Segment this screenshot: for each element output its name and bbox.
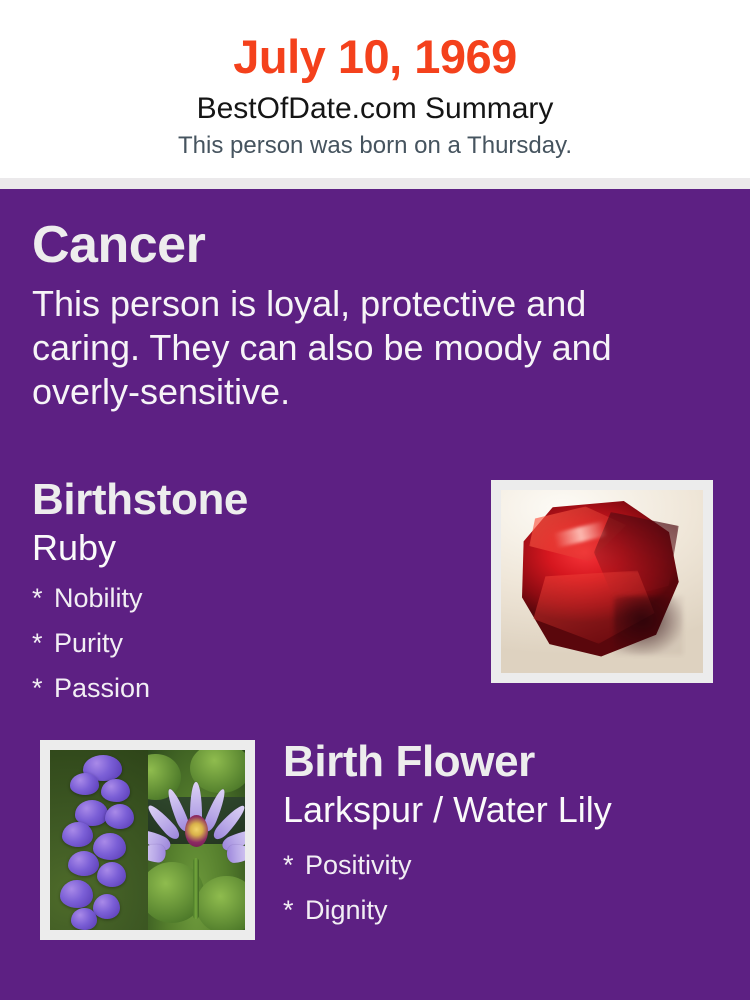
- lily-pad: [196, 876, 245, 930]
- list-item: *Passion: [32, 666, 462, 711]
- birthstone-section: Birthstone Ruby *Nobility *Purity *Passi…: [32, 475, 462, 711]
- birth-flower-trait-label: Positivity: [305, 850, 412, 880]
- larkspur-bloom: [60, 880, 93, 909]
- birth-flower-value: Larkspur / Water Lily: [283, 787, 733, 831]
- water-lily-photo-half: [148, 750, 246, 930]
- bullet-star-icon: *: [32, 576, 54, 621]
- birthstone-image-frame: [491, 480, 713, 683]
- card-header: July 10, 1969 BestOfDate.com Summary Thi…: [0, 0, 750, 178]
- birth-flower-image-frame: [40, 740, 255, 940]
- list-item: *Nobility: [32, 576, 462, 621]
- lily-stem: [193, 858, 199, 919]
- larkspur-bloom: [97, 862, 126, 887]
- birthstone-trait-list: *Nobility *Purity *Passion: [32, 569, 462, 711]
- zodiac-section: Cancer This person is loyal, protective …: [32, 216, 672, 414]
- larkspur-bloom: [105, 804, 134, 829]
- ruby-facet-dark: [614, 596, 683, 655]
- birth-flower-trait-list: *Positivity *Dignity: [283, 831, 733, 933]
- larkspur-bloom: [101, 779, 130, 802]
- lily-petal: [226, 844, 245, 863]
- birth-flower-title: Birth Flower: [283, 737, 733, 787]
- larkspur-bloom: [70, 773, 99, 795]
- zodiac-sign-name: Cancer: [32, 216, 672, 274]
- larkspur-and-water-lily-photo: [50, 750, 245, 930]
- birthday-summary-card: July 10, 1969 BestOfDate.com Summary Thi…: [0, 0, 750, 1000]
- bullet-star-icon: *: [283, 888, 305, 933]
- birth-flower-trait-label: Dignity: [305, 895, 388, 925]
- birthstone-value: Ruby: [32, 525, 462, 569]
- list-item: *Dignity: [283, 888, 733, 933]
- larkspur-bloom: [93, 894, 120, 919]
- birthstone-title: Birthstone: [32, 475, 462, 525]
- birthstone-trait-label: Passion: [54, 673, 150, 703]
- bullet-star-icon: *: [32, 621, 54, 666]
- bullet-star-icon: *: [32, 666, 54, 711]
- larkspur-bloom: [93, 833, 126, 860]
- list-item: *Purity: [32, 621, 462, 666]
- page-title: July 10, 1969: [0, 0, 750, 85]
- ruby-gemstone-photo: [501, 490, 703, 673]
- site-summary-label: BestOfDate.com Summary: [0, 85, 750, 127]
- larkspur-bloom: [62, 822, 93, 847]
- larkspur-bloom: [68, 851, 99, 876]
- birthstone-trait-label: Nobility: [54, 583, 143, 613]
- zodiac-description: This person is loyal, protective and car…: [32, 274, 642, 414]
- lily-center-stamen: [185, 815, 208, 847]
- birth-flower-section: Birth Flower Larkspur / Water Lily *Posi…: [283, 737, 733, 933]
- bullet-star-icon: *: [283, 843, 305, 888]
- day-of-week-line: This person was born on a Thursday.: [0, 127, 750, 161]
- birthstone-trait-label: Purity: [54, 628, 123, 658]
- larkspur-bloom: [71, 908, 96, 930]
- list-item: *Positivity: [283, 843, 733, 888]
- larkspur-photo-half: [50, 750, 148, 930]
- header-divider: [0, 178, 750, 189]
